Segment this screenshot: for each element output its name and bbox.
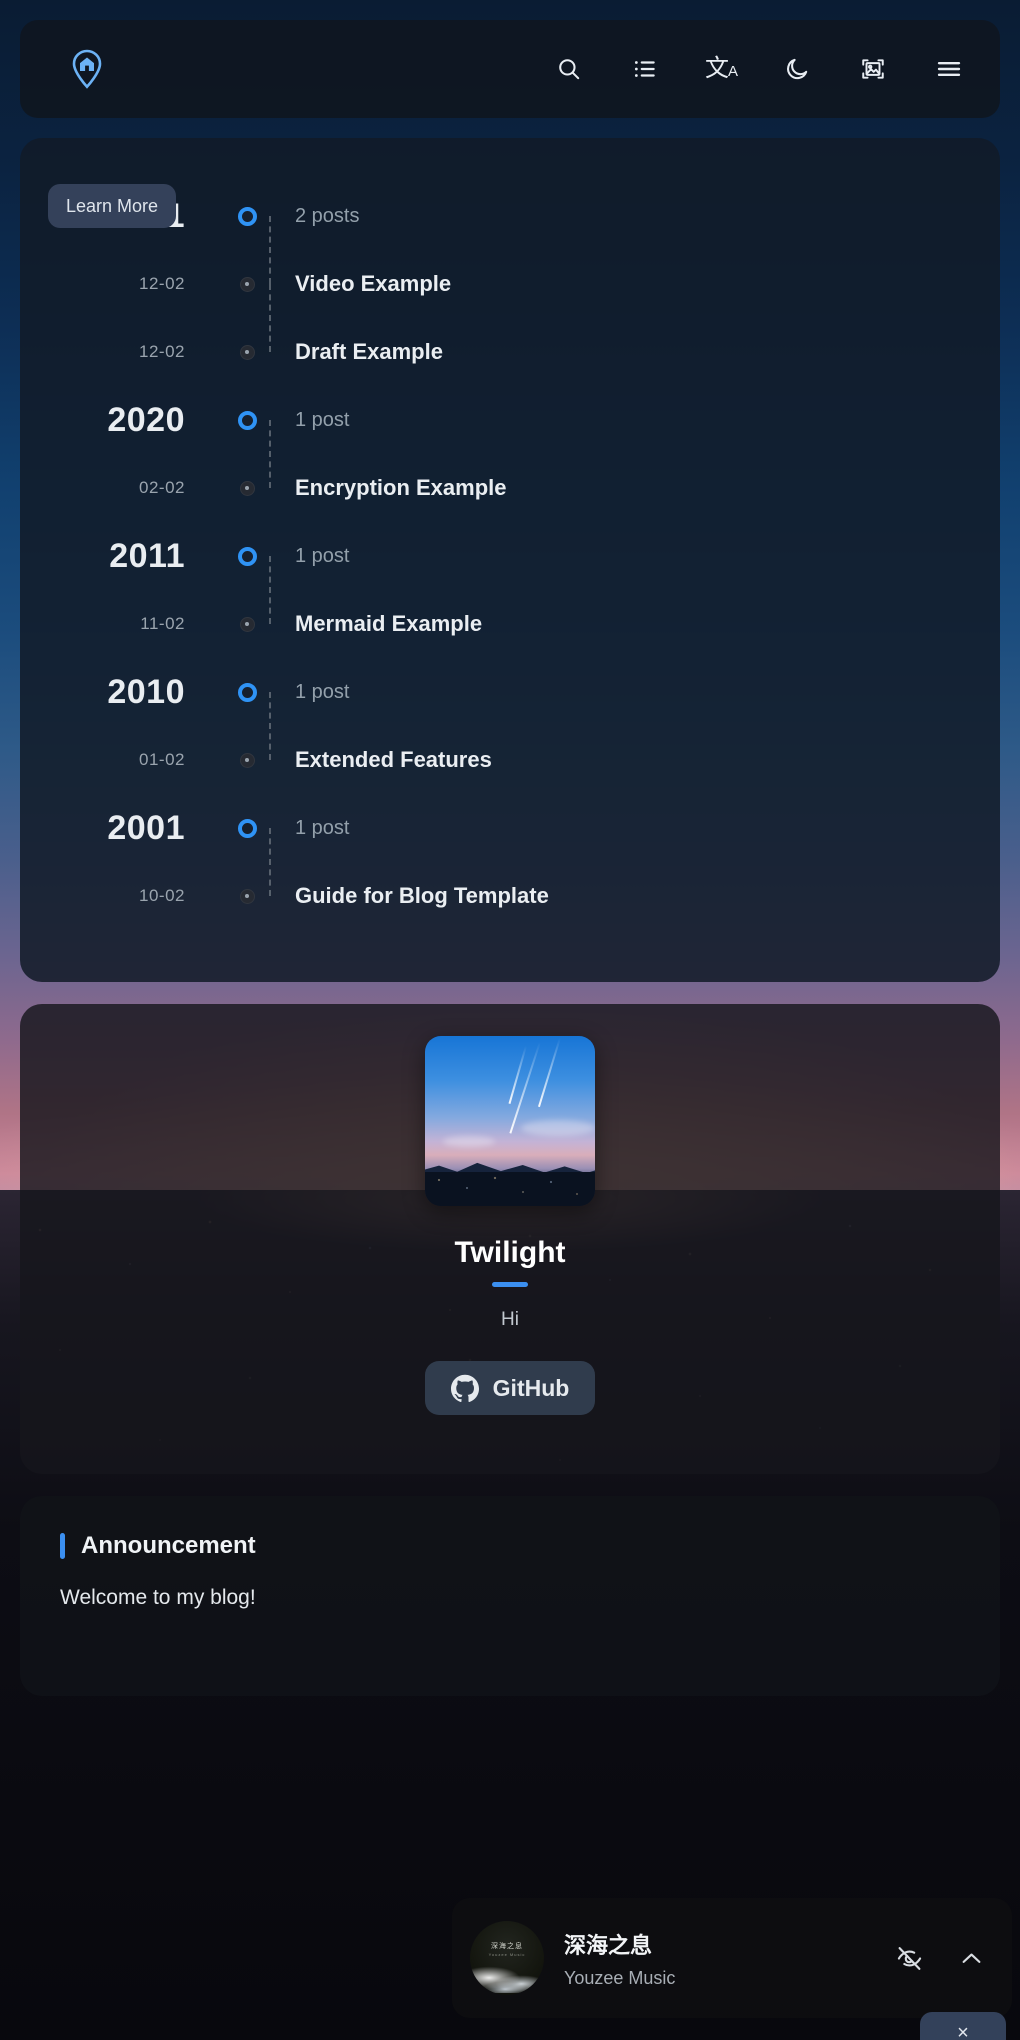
avatar-city-lights: [425, 1172, 595, 1206]
timeline-axis: [225, 182, 269, 250]
timeline-post-row[interactable]: 02-02 Encryption Example: [20, 454, 1000, 522]
timeline-axis: [225, 794, 269, 862]
post-marker-dot: [240, 277, 255, 292]
profile-card: Twilight Hi GitHub: [20, 1004, 1000, 1474]
avatar-cloud: [521, 1120, 595, 1136]
post-date-text: 11-02: [20, 614, 185, 634]
timeline-post-row[interactable]: 12-02 Draft Example: [20, 318, 1000, 386]
post-count-text: 1 post: [295, 545, 1000, 568]
announcement-text: Welcome to my blog!: [60, 1586, 960, 1610]
post-marker-dot: [240, 345, 255, 360]
timeline-connector: [269, 692, 271, 760]
timeline-connector: [269, 420, 271, 488]
timeline-post-link[interactable]: Guide for Blog Template: [269, 883, 1000, 909]
timeline-axis: [225, 250, 269, 318]
timeline-year-label: 2001: [20, 809, 225, 848]
timeline-year-label: 2020: [20, 401, 225, 440]
announcement-accent-bar: [60, 1533, 65, 1559]
post-date-text: 10-02: [20, 886, 185, 906]
timeline-card: 2021 2 posts 12-02 Video Example: [20, 138, 1000, 982]
github-button[interactable]: GitHub: [425, 1361, 596, 1415]
timeline-post-date: 11-02: [20, 614, 225, 634]
timeline-axis: [225, 658, 269, 726]
timeline-post-row[interactable]: 12-02 Video Example: [20, 250, 1000, 318]
learn-more-button[interactable]: Learn More: [48, 184, 176, 228]
timeline-post-date: 02-02: [20, 478, 225, 498]
year-text: 2010: [20, 673, 185, 712]
header-icon-bar: 文A: [554, 54, 964, 84]
timeline-axis: [225, 726, 269, 794]
post-marker-dot: [240, 753, 255, 768]
post-count-text: 1 post: [295, 817, 1000, 840]
avatar[interactable]: [425, 1036, 595, 1206]
music-player: 深海之息 Youzee Music 深海之息 Youzee Music: [452, 1898, 1012, 2018]
page-shell: 文A: [0, 0, 1020, 1696]
timeline-year-count: 1 post: [269, 681, 1000, 704]
timeline-post-row[interactable]: 11-02 Mermaid Example: [20, 590, 1000, 658]
year-marker-dot: [238, 207, 257, 226]
post-marker-dot: [240, 481, 255, 496]
timeline-axis: [225, 522, 269, 590]
site-header: 文A: [20, 20, 1000, 118]
timeline-year-label: 2011: [20, 537, 225, 576]
post-title-text[interactable]: Draft Example: [295, 339, 1000, 365]
post-count-text: 2 posts: [295, 205, 1000, 228]
post-title-text[interactable]: Mermaid Example: [295, 611, 1000, 637]
list-icon[interactable]: [630, 54, 660, 84]
moon-icon[interactable]: [782, 54, 812, 84]
translate-icon[interactable]: 文A: [706, 54, 736, 84]
close-corner-button[interactable]: ×: [920, 2012, 1006, 2040]
timeline-axis: [225, 454, 269, 522]
year-marker-dot: [238, 411, 257, 430]
timeline-post-row[interactable]: 10-02 Guide for Blog Template: [20, 862, 1000, 930]
post-title-text[interactable]: Guide for Blog Template: [295, 883, 1000, 909]
timeline-connector: [269, 556, 271, 624]
avatar-cloud: [443, 1136, 495, 1147]
year-marker-dot: [238, 683, 257, 702]
map-pin-home-icon[interactable]: [66, 48, 108, 90]
player-metadata: 深海之息 Youzee Music: [564, 1928, 874, 1989]
timeline-axis: [225, 318, 269, 386]
post-marker-dot: [240, 617, 255, 632]
post-count-text: 1 post: [295, 409, 1000, 432]
post-date-text: 02-02: [20, 478, 185, 498]
timeline-axis: [225, 590, 269, 658]
timeline-year-count: 1 post: [269, 409, 1000, 432]
timeline-year-count: 1 post: [269, 817, 1000, 840]
post-title-text[interactable]: Encryption Example: [295, 475, 1000, 501]
timeline-post-link[interactable]: Extended Features: [269, 747, 1000, 773]
timeline-year-row: 2020 1 post: [20, 386, 1000, 454]
timeline-post-date: 10-02: [20, 886, 225, 906]
timeline-post-date: 12-02: [20, 274, 225, 294]
timeline-post-date: 01-02: [20, 750, 225, 770]
timeline-post-row[interactable]: 01-02 Extended Features: [20, 726, 1000, 794]
menu-icon[interactable]: [934, 54, 964, 84]
announcement-card: Announcement Welcome to my blog!: [20, 1496, 1000, 1696]
timeline-connector: [269, 216, 271, 284]
year-marker-dot: [238, 819, 257, 838]
timeline-axis: [225, 862, 269, 930]
translate-glyph: 文A: [705, 57, 737, 81]
announcement-title: Announcement: [81, 1532, 256, 1560]
year-marker-dot: [238, 547, 257, 566]
timeline-year-count: 2 posts: [269, 205, 1000, 228]
album-art[interactable]: 深海之息 Youzee Music: [470, 1921, 544, 1995]
post-title-text[interactable]: Video Example: [295, 271, 1000, 297]
eye-off-icon[interactable]: [894, 1943, 924, 1973]
timeline-post-link[interactable]: Mermaid Example: [269, 611, 1000, 637]
post-date-text: 01-02: [20, 750, 185, 770]
post-marker-dot: [240, 889, 255, 904]
post-count-text: 1 post: [295, 681, 1000, 704]
timeline-post-link[interactable]: Encryption Example: [269, 475, 1000, 501]
timeline-year-label: 2010: [20, 673, 225, 712]
timeline-year-row: 2011 1 post: [20, 522, 1000, 590]
timeline-post-link[interactable]: Draft Example: [269, 339, 1000, 365]
chevron-up-icon[interactable]: [956, 1943, 986, 1973]
github-label: GitHub: [493, 1375, 570, 1402]
image-icon[interactable]: [858, 54, 888, 84]
timeline-axis: [225, 386, 269, 454]
search-icon[interactable]: [554, 54, 584, 84]
profile-description: Hi: [501, 1309, 519, 1331]
timeline-connector: [269, 284, 271, 352]
timeline-year-row: 2001 1 post: [20, 794, 1000, 862]
timeline-post-link[interactable]: Video Example: [269, 271, 1000, 297]
post-date-text: 12-02: [20, 342, 185, 362]
year-text: 2020: [20, 401, 185, 440]
timeline-year-count: 1 post: [269, 545, 1000, 568]
album-art-wave: [470, 1955, 544, 1993]
player-track-title: 深海之息: [564, 1928, 874, 1960]
album-art-title: 深海之息: [470, 1941, 544, 1951]
profile-accent-bar: [492, 1282, 528, 1287]
player-track-artist: Youzee Music: [564, 1968, 874, 1989]
post-title-text[interactable]: Extended Features: [295, 747, 1000, 773]
timeline-connector: [269, 828, 271, 896]
player-controls: [894, 1943, 986, 1973]
announcement-header: Announcement: [60, 1532, 960, 1560]
year-text: 2011: [20, 537, 185, 576]
profile-name: Twilight: [454, 1236, 565, 1270]
post-date-text: 12-02: [20, 274, 185, 294]
year-text: 2001: [20, 809, 185, 848]
timeline-year-row: 2010 1 post: [20, 658, 1000, 726]
timeline-post-date: 12-02: [20, 342, 225, 362]
github-icon: [451, 1374, 479, 1402]
